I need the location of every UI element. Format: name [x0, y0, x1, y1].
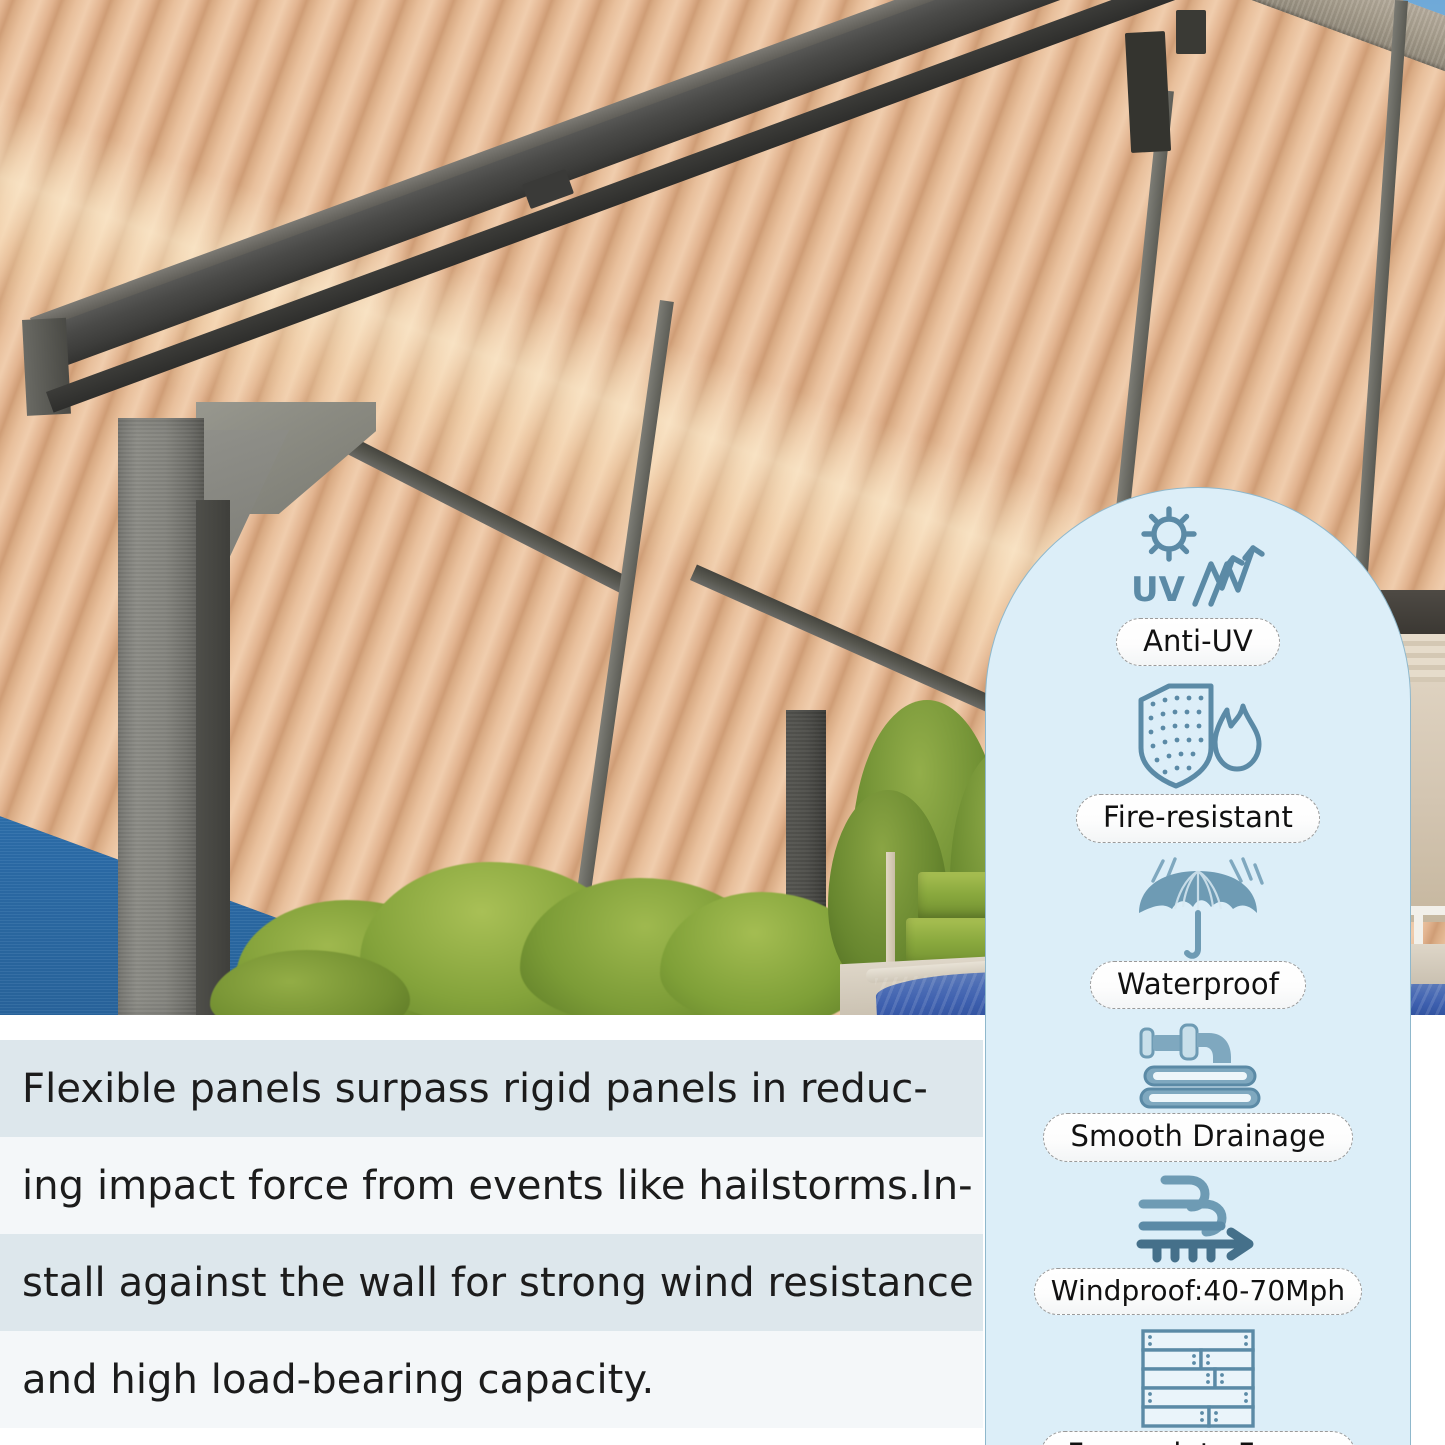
pool-railing-post: [1414, 906, 1423, 946]
feature-label-windproof: Windproof:40-70Mph: [1034, 1268, 1362, 1315]
feature-badge-panel: UV Anti-UV: [985, 487, 1411, 1445]
description-panel: Flexible panels surpass rigid panels in …: [0, 1015, 983, 1445]
beam-bracket: [1176, 10, 1206, 54]
description-line-2: ing impact force from events like hailst…: [0, 1137, 983, 1234]
feature-label-anti-uv: Anti-UV: [1116, 618, 1280, 666]
feature-label-fire-resistant: Fire-resistant: [1076, 794, 1320, 842]
svg-text:UV: UV: [1131, 570, 1186, 610]
umbrella-rain-icon: [1123, 857, 1273, 961]
feature-windproof: Windproof:40-70Mph: [986, 1174, 1410, 1315]
shield-flame-icon: [1125, 676, 1271, 794]
support-post-left: [118, 418, 204, 1015]
feature-waterproof: Waterproof: [986, 857, 1410, 1009]
description-line-4: and high load-bearing capacity.: [0, 1331, 983, 1428]
feature-fire-resistant: Fire-resistant: [986, 676, 1410, 842]
infographic-canvas: Flexible panels surpass rigid panels in …: [0, 0, 1445, 1445]
feature-label-smooth-drainage: Smooth Drainage: [1043, 1113, 1352, 1161]
description-line-1: Flexible panels surpass rigid panels in …: [0, 1040, 983, 1137]
beam-bracket: [1125, 31, 1171, 153]
post-shadow-face: [196, 500, 230, 1015]
wind-swirl-icon: [1123, 1174, 1273, 1268]
feature-smooth-drainage: Smooth Drainage: [986, 1021, 1410, 1161]
feature-label-waterproof: Waterproof: [1090, 961, 1306, 1009]
description-line-3: stall against the wall for strong wind r…: [0, 1234, 983, 1331]
feature-label-heavy-duty-frame: Feavy-duty Frame: [1040, 1431, 1355, 1445]
uv-sun-arrows-icon: UV: [1123, 506, 1273, 618]
stacked-panel-frame-icon: [1137, 1327, 1259, 1431]
feature-heavy-duty-frame: Feavy-duty Frame: [986, 1327, 1410, 1445]
coiled-hose-faucet-icon: [1123, 1021, 1273, 1113]
panel-top-gap: [0, 1015, 983, 1040]
